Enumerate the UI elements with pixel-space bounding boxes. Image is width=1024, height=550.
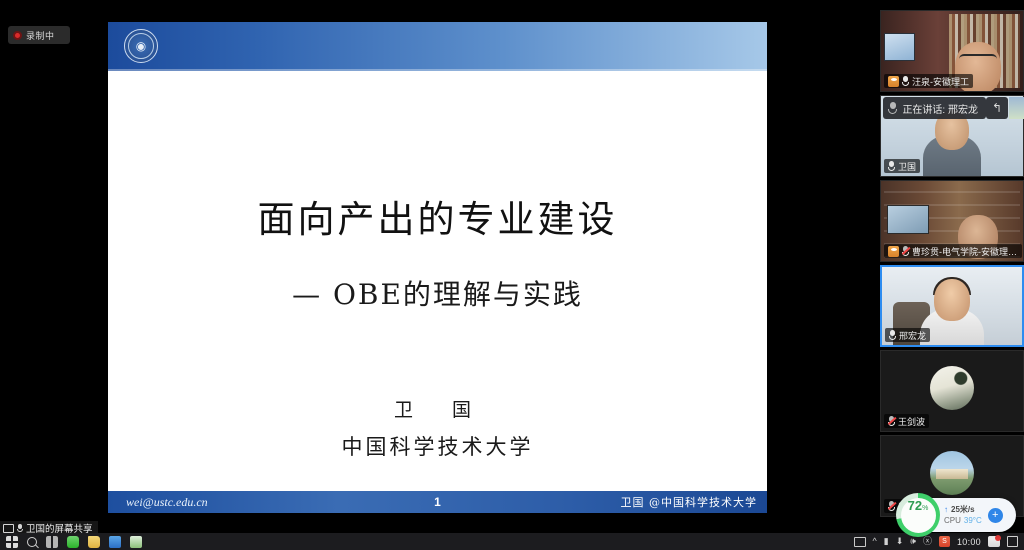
participant-tile[interactable]: 汪泉-安徽理工 [880, 10, 1024, 92]
slide-body: 面向产出的专业建设 — OBE的理解与实践 卫 国 中国科学技术大学 [108, 71, 767, 491]
participant-name: 卫国 [898, 160, 916, 173]
windows-taskbar[interactable]: ^ ▮ ⬇ 🕪 ⓧ S 10:00 [0, 533, 1024, 550]
system-monitor-widget[interactable]: 72 % ↑ 25米/s CPU 39°C + [908, 498, 1016, 532]
microphone-icon [17, 524, 23, 533]
footer-organization: 卫国 @中国科学技术大学 [621, 494, 758, 510]
upload-arrow-icon: ↑ [944, 506, 948, 514]
add-widget-button[interactable]: + [988, 508, 1003, 523]
participant-tile[interactable]: 曹珍贯-电气学院-安徽理工大学 [880, 180, 1024, 262]
cpu-label: CPU [944, 516, 961, 525]
network-speed-value: 25米/s [951, 505, 975, 514]
taskbar-clock[interactable]: 10:00 [957, 537, 981, 547]
avatar [930, 451, 974, 495]
microphone-muted-icon [902, 246, 909, 256]
volume-icon[interactable]: 🕪 [910, 537, 916, 546]
shared-screen-slide: ◉ 面向产出的专业建设 — OBE的理解与实践 卫 国 中国科学技术大学 wei… [108, 22, 767, 513]
participant-tile[interactable]: 王剑波 [880, 350, 1024, 432]
participant-name: 汪泉-安徽理工 [912, 75, 969, 88]
search-icon[interactable] [27, 537, 37, 547]
microphone-muted-icon [888, 501, 895, 511]
participant-name-tag: 王剑波 [884, 414, 929, 428]
ustc-logo-icon: ◉ [124, 29, 158, 63]
participant-name-tag: 曹珍贯-电气学院-安徽理工大学 [884, 244, 1022, 258]
slide-affiliation: 中国科学技术大学 [342, 431, 534, 461]
microphone-icon [902, 76, 909, 86]
participant-name-tag: 卫国 [884, 159, 920, 173]
monitor-icon [3, 524, 14, 533]
active-speaker-toast: 正在讲话: 邢宏龙 [883, 97, 986, 119]
participant-name: 王剑波 [898, 415, 925, 428]
slide-title: 面向产出的专业建设 [258, 189, 618, 243]
system-tray[interactable]: ^ ▮ ⬇ 🕪 ⓧ S 10:00 [854, 536, 1024, 547]
avatar [930, 366, 974, 410]
participant-video-rail[interactable]: 汪泉-安徽理工卫国曹珍贯-电气学院-安徽理工大学邢宏龙王剑波王一 [880, 10, 1024, 525]
return-to-gallery-button[interactable]: ↰ [986, 97, 1008, 119]
slide-header-bar: ◉ [108, 22, 767, 71]
percent-symbol: % [922, 505, 928, 512]
host-icon [888, 76, 899, 87]
participant-name: 邢宏龙 [899, 329, 926, 342]
green-app-icon[interactable] [130, 536, 142, 548]
updater-icon[interactable]: ⬇ [896, 537, 904, 546]
folder-icon[interactable] [88, 536, 100, 548]
chevron-up-icon[interactable]: ^ [873, 537, 877, 546]
minimized-video-thumb[interactable] [1009, 97, 1024, 119]
host-icon [888, 246, 899, 257]
slide-subtitle: — OBE的理解与实践 [292, 273, 583, 313]
recording-indicator: 录制中 [8, 26, 70, 44]
participant-name: 曹珍贯-电气学院-安徽理工大学 [912, 245, 1018, 258]
cpu-usage-ring: 72 % [896, 493, 940, 537]
start-icon[interactable] [6, 536, 18, 548]
system-monitor-stats: ↑ 25米/s CPU 39°C [944, 505, 982, 524]
slide-author: 卫 国 [394, 395, 481, 422]
microphone-icon [888, 102, 897, 115]
action-center-icon[interactable] [1007, 536, 1018, 547]
wechat-icon[interactable] [67, 536, 79, 548]
participant-name-tag: 汪泉-安徽理工 [884, 74, 973, 88]
mail-icon[interactable] [988, 536, 1000, 547]
screen-root: 录制中 ◉ 面向产出的专业建设 — OBE的理解与实践 卫 国 中国科学技术大学… [0, 0, 1024, 550]
recording-label: 录制中 [26, 29, 55, 42]
microphone-icon [889, 330, 896, 340]
sogou-ime-icon[interactable]: S [939, 536, 950, 547]
record-dot-icon [13, 31, 22, 40]
microphone-muted-icon [888, 416, 895, 426]
close-x-icon[interactable]: ⓧ [923, 537, 932, 546]
battery-icon[interactable]: ▮ [884, 537, 889, 546]
task-view-icon[interactable] [46, 536, 58, 548]
taskbar-app-icons[interactable] [0, 536, 142, 548]
active-speaker-label: 正在讲话: 邢宏龙 [902, 101, 978, 116]
tray-panel-icon[interactable] [854, 537, 866, 547]
slide-footer-bar: wei@ustc.edu.cn 1 卫国 @中国科学技术大学 [108, 491, 767, 513]
blue-app-icon[interactable] [109, 536, 121, 548]
microphone-icon [888, 161, 895, 171]
participant-name-tag: 邢宏龙 [885, 328, 930, 342]
participant-tile[interactable]: 邢宏龙 [880, 265, 1024, 347]
cpu-temperature-value: 39°C [964, 516, 982, 525]
cpu-usage-percent: 72 [908, 498, 922, 513]
